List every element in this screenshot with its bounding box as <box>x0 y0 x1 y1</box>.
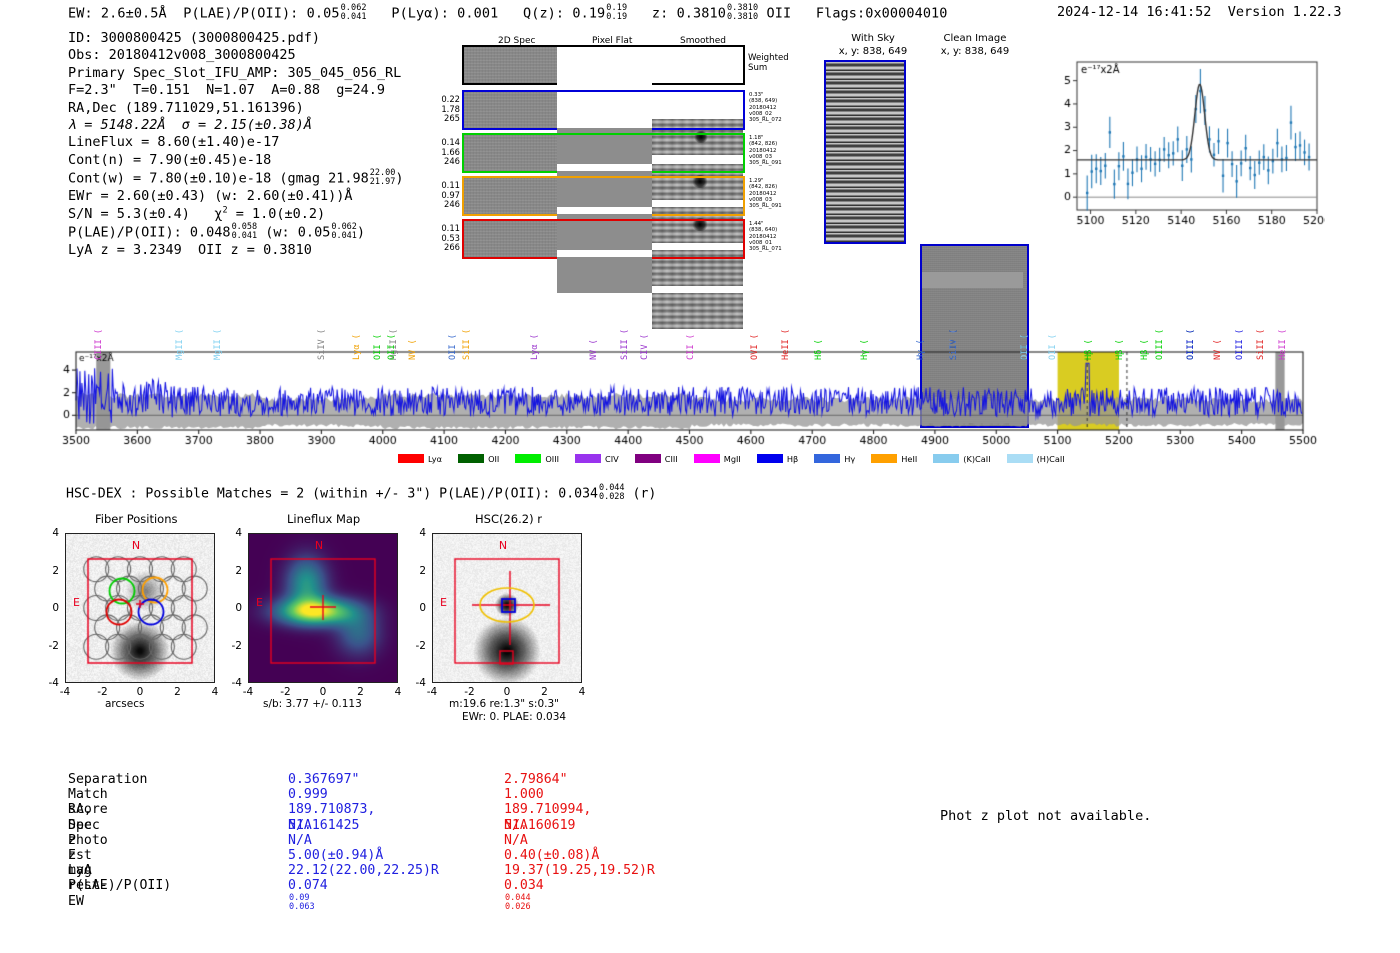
match-red-value: 0.0340.0440.026 <box>504 878 544 911</box>
hsc-image <box>432 533 582 683</box>
qz-errors: 0.190.19 <box>606 4 627 22</box>
match-blue-value: N/A <box>288 818 312 833</box>
emission-line-label: Hδ ( <box>814 339 824 360</box>
row-meta-line: 305_RL_072 <box>749 117 782 123</box>
timestamp: 2024-12-14 16:41:52 <box>1057 4 1211 20</box>
axis-tick-label: 0 <box>419 602 426 614</box>
photz-note: Phot z plot not available. <box>940 808 1151 824</box>
axis-tick-label: 2 <box>235 565 242 577</box>
axis-tick-label: 4 <box>395 686 402 698</box>
info-lineflux: LineFlux = 8.60(±1.40)e-17 <box>68 134 403 151</box>
axis-tick-label: -2 <box>49 640 59 652</box>
weighted-sum-row <box>462 45 745 85</box>
clean-image-sub: x, y: 838, 649 <box>925 46 1025 57</box>
hsc-xlabel-2: EWr: 0. PLAE: 0.034 <box>462 711 566 723</box>
row-stat: 246 <box>432 157 460 167</box>
qz-label: Q(z): <box>523 6 564 22</box>
axis-tick-label: -2 <box>232 640 242 652</box>
legend-swatch <box>933 454 959 463</box>
legend-swatch <box>1007 454 1033 463</box>
north-label: N <box>499 539 507 552</box>
emission-line-label: SiIV ( <box>949 329 959 360</box>
z-errors: 0.38100.3810 <box>727 4 758 22</box>
match-red-value: 2.79864" <box>504 772 568 787</box>
legend-swatch <box>694 454 720 463</box>
emission-line-label: NV ( <box>1213 339 1223 360</box>
emission-line-label: OVI ( <box>750 334 760 360</box>
axis-tick-label: -4 <box>243 686 253 698</box>
info-lambda: λ = 5148.22Å σ = 2.15(±0.38)Å <box>68 117 403 134</box>
axis-tick-label: -2 <box>464 686 474 698</box>
legend-swatch <box>575 454 601 463</box>
match-blue-value: 22.12(22.00,22.25)R <box>288 863 439 878</box>
row-meta: 1.44"(838, 640)20180412v008_01305_RL_071 <box>749 221 782 252</box>
emission-line-label: NV ( <box>408 339 418 360</box>
fiber-panel-title: Fiber Positions <box>95 512 178 526</box>
emission-line-label: OII ( <box>1020 334 1030 360</box>
header-timestamp-block: 2024-12-14 16:41:52 Version 1.22.3 <box>1057 4 1342 20</box>
row-meta-line: (838, 640) <box>749 227 782 233</box>
legend-label: Hγ <box>844 454 855 464</box>
hsc-panel-title: HSC(26.2) r <box>475 512 542 526</box>
info-sn: S/N = 5.3(±0.4) χ2 = 1.0(±0.2) <box>68 206 403 223</box>
north-label: N <box>315 539 323 552</box>
info-plae: P(LAE)/P(OII): 0.0480.0580.041 (w: 0.050… <box>68 223 403 242</box>
emission-line-label: OIII ( <box>1235 329 1245 360</box>
row-meta: 0.33"(838, 649)20180412v008_02305_RL_072 <box>749 92 782 123</box>
qz-value: 0.19 <box>572 6 605 22</box>
info-id: ID: 3000800425 (3000800425.pdf) <box>68 30 403 47</box>
axis-tick-label: -4 <box>232 677 242 689</box>
axis-tick-label: -4 <box>49 677 59 689</box>
emission-line-label: SiII ( <box>620 329 630 360</box>
emission-line-label: OII ( <box>1048 334 1058 360</box>
info-radec: RA,Dec (189.711029,51.161396) <box>68 100 403 117</box>
axis-tick-label: 0 <box>320 686 327 698</box>
emission-line-label: Hβ ( <box>1115 339 1125 360</box>
legend-label: OII <box>488 454 499 464</box>
east-label: E <box>440 596 447 609</box>
row-meta: 1.29"(842, 826)20180412v008_03305_RL_091 <box>749 178 782 209</box>
match-row-label: Separation <box>68 772 147 787</box>
axis-tick-label: 2 <box>357 686 364 698</box>
legend-swatch <box>515 454 541 463</box>
exposure-row <box>462 90 745 130</box>
row-stats: 0.221.78265 <box>432 95 460 124</box>
weighted-sum-label: Weighted Sum <box>748 53 789 73</box>
row-2dspec <box>464 92 557 128</box>
exposure-row <box>462 133 745 173</box>
axis-tick-label: 2 <box>52 565 59 577</box>
axis-tick-label: 2 <box>419 565 426 577</box>
row-stats: 0.141.66246 <box>432 138 460 167</box>
hsc-xlabel-1: m:19.6 re:1.3" s:0.3" <box>449 698 559 710</box>
legend-swatch <box>635 454 661 463</box>
z-label: z: <box>652 6 668 22</box>
plya-value: 0.001 <box>457 6 498 22</box>
emission-line-label: CIII ( <box>94 329 104 360</box>
exposure-row <box>462 176 745 216</box>
lineflux-map-image <box>248 533 398 683</box>
row-stat: 246 <box>432 200 460 210</box>
row-stats: 0.110.97246 <box>432 181 460 210</box>
legend-swatch <box>398 454 424 463</box>
header-summary-line: EW: 2.6±0.5Å P(LAE)/P(OII): 0.050.0620.0… <box>68 4 948 22</box>
row-meta-line: (838, 649) <box>749 98 782 104</box>
info-contn: Cont(n) = 7.90(±0.45)e-18 <box>68 152 403 169</box>
plae-label: P(LAE)/P(OII): <box>183 6 298 22</box>
plya-label: P(Lyα): <box>391 6 449 22</box>
full-spectrum-plot <box>40 268 1370 453</box>
axis-tick-label: 4 <box>212 686 219 698</box>
axis-tick-label: -2 <box>97 686 107 698</box>
info-redshifts: LyA z = 3.2349 OII z = 0.3810 <box>68 242 403 259</box>
emission-line-label: HeII ( <box>781 329 791 360</box>
axis-tick-label: -2 <box>280 686 290 698</box>
legend-label: Lyα <box>428 454 442 464</box>
row-2dspec <box>464 178 557 214</box>
legend-label: (H)CaII <box>1037 454 1065 464</box>
axis-tick-label: 4 <box>419 527 426 539</box>
lineflux-xlabel: s/b: 3.77 +/- 0.113 <box>263 698 362 710</box>
east-label: E <box>256 596 263 609</box>
emission-line-label: Hβ ( <box>1084 339 1094 360</box>
spectrum-legend: LyαOIIOIIICIVCIIIMgIIHβHγHeII(K)CaII(H)C… <box>398 454 1081 464</box>
axis-tick-label: -4 <box>416 677 426 689</box>
match-blue-value: 0.367697" <box>288 772 359 787</box>
z-kind: OII <box>766 6 791 22</box>
ew-value: 2.6±0.5Å <box>101 6 167 22</box>
legend-swatch <box>814 454 840 463</box>
emission-line-label: OII ( <box>387 334 397 360</box>
emission-line-label: HeII ( <box>1278 329 1288 360</box>
emission-line-label: OIII ( <box>1155 329 1165 360</box>
row-stat: 265 <box>432 114 460 124</box>
info-slot: Primary Spec_Slot_IFU_AMP: 305_045_056_R… <box>68 65 403 82</box>
legend-swatch <box>871 454 897 463</box>
legend-label: MgII <box>724 454 741 464</box>
row-2dspec <box>464 221 557 257</box>
flags: Flags:0x00004010 <box>816 6 948 22</box>
version: Version 1.22.3 <box>1228 4 1342 20</box>
axis-tick-label: -2 <box>416 640 426 652</box>
north-label: N <box>132 539 140 552</box>
info-ewr: EWr = 2.60(±0.43) (w: 2.60(±0.41))Å <box>68 188 403 205</box>
axis-tick-label: 4 <box>579 686 586 698</box>
with-sky-title: With Sky <box>828 33 918 44</box>
axis-tick-label: -4 <box>60 686 70 698</box>
clean-image-title: Clean Image <box>925 33 1025 44</box>
match-blue-value: 5.00(±0.94)Å <box>288 848 383 863</box>
fiber-positions-image <box>65 533 215 683</box>
object-info-block: ID: 3000800425 (3000800425.pdf) Obs: 201… <box>68 30 403 260</box>
row-2dspec <box>464 135 557 171</box>
info-seeing: F=2.3" T=0.151 N=1.07 A=0.88 g=24.9 <box>68 82 403 99</box>
match-red-value: N/A <box>504 833 528 848</box>
hscdex-title: HSC-DEX : Possible Matches = 2 (within +… <box>66 484 656 502</box>
z-value: 0.3810 <box>677 6 726 22</box>
zoomed-line-plot <box>1035 48 1325 248</box>
row-meta: 1.18"(842, 826)20180412v008_03305_RL_091 <box>749 135 782 166</box>
emission-line-label: Hγ ( <box>860 339 870 360</box>
legend-label: Hβ <box>787 454 798 464</box>
info-obs: Obs: 20180412v008_3000800425 <box>68 47 403 64</box>
match-row-label: mag <box>68 863 92 878</box>
row-stat: 266 <box>432 243 460 253</box>
match-blue-value: 0.999 <box>288 787 328 802</box>
emission-line-label: OII ( <box>448 334 458 360</box>
info-contw: Cont(w) = 7.80(±0.10)e-18 (gmag 21.9822.… <box>68 169 403 188</box>
with-sky-sub: x, y: 838, 649 <box>828 46 918 57</box>
axis-tick-label: 4 <box>235 527 242 539</box>
emission-line-label: Lyα ( <box>352 334 362 360</box>
axis-tick-label: 4 <box>52 527 59 539</box>
match-red-value: 19.37(19.25,19.52)R <box>504 863 655 878</box>
match-blue-value: N/A <box>288 833 312 848</box>
legend-label: CIII <box>665 454 678 464</box>
with-sky-image <box>824 60 906 244</box>
row-meta-line: 305_RL_091 <box>749 160 782 166</box>
row-meta-line: 305_RL_071 <box>749 246 782 252</box>
plae-errors: 0.0620.041 <box>341 4 367 22</box>
match-row-label: P(LAE)/P(OII) <box>68 878 171 893</box>
emission-line-label: CIV ( <box>640 334 650 360</box>
emission-line-label: Hβ ( <box>1140 339 1150 360</box>
ew-label: EW: <box>68 6 93 22</box>
legend-swatch <box>757 454 783 463</box>
plae-value: 0.05 <box>307 6 340 22</box>
match-red-value: 0.40(±0.08)Å <box>504 848 599 863</box>
emission-line-label: MgII ( <box>175 329 185 360</box>
axis-tick-label: 0 <box>235 602 242 614</box>
axis-tick-label: 0 <box>504 686 511 698</box>
emission-line-label: CII ( <box>686 334 696 360</box>
axis-tick-label: 2 <box>174 686 181 698</box>
emission-line-label: MgII ( <box>213 329 223 360</box>
weighted-sum-2dspec <box>464 47 557 83</box>
row-meta-line: (842, 826) <box>749 184 782 190</box>
match-red-value: N/A <box>504 818 528 833</box>
axis-tick-label: -4 <box>427 686 437 698</box>
row-stats: 0.110.53266 <box>432 224 460 253</box>
emission-line-label: OII ( <box>373 334 383 360</box>
emission-line-label: SiII ( <box>462 329 472 360</box>
axis-tick-label: 0 <box>52 602 59 614</box>
emission-line-label: SiIV ( <box>317 329 327 360</box>
row-meta-line: (842, 826) <box>749 141 782 147</box>
emission-line-label: Hγ ( <box>916 339 926 360</box>
east-label: E <box>73 596 80 609</box>
emission-line-label: SiII ( <box>1256 329 1266 360</box>
emission-line-label: OIII ( <box>1186 329 1196 360</box>
axis-tick-label: 0 <box>137 686 144 698</box>
legend-label: OIII <box>545 454 559 464</box>
legend-swatch <box>458 454 484 463</box>
legend-label: (K)CaII <box>963 454 990 464</box>
axis-tick-label: 2 <box>541 686 548 698</box>
row-meta-line: 305_RL_091 <box>749 203 782 209</box>
legend-label: HeII <box>901 454 917 464</box>
match-red-value: 1.000 <box>504 787 544 802</box>
fiber-xlabel: arcsecs <box>105 698 144 710</box>
match-blue-value: 0.0740.090.063 <box>288 878 328 911</box>
emission-line-label: NV ( <box>589 339 599 360</box>
exposure-row <box>462 219 745 259</box>
lineflux-panel-title: Lineflux Map <box>287 512 360 526</box>
emission-line-label: Lyα ( <box>530 334 540 360</box>
legend-label: CIV <box>605 454 619 464</box>
